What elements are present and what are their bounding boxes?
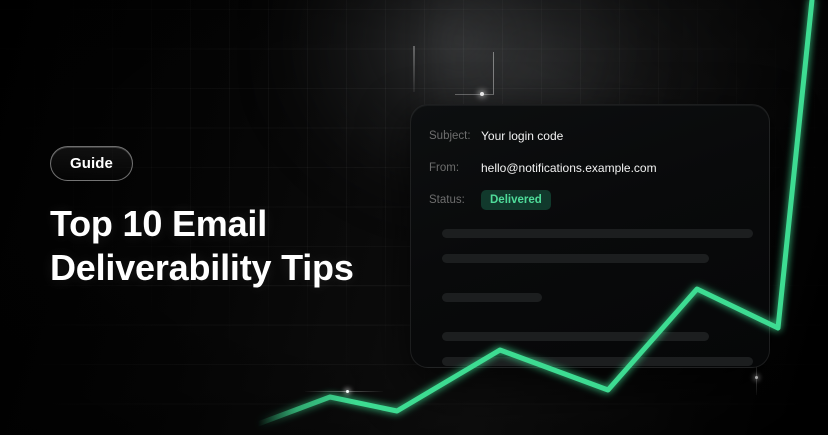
guide-badge: Guide xyxy=(50,146,133,181)
email-field-status-label: Status: xyxy=(429,194,481,206)
status-badge: Delivered xyxy=(481,190,551,210)
email-field-subject: Subject: Your login code xyxy=(429,123,769,148)
email-field-subject-value: Your login code xyxy=(481,129,563,143)
email-body-placeholder-bar xyxy=(442,357,753,366)
email-field-from: From: hello@notifications.example.com xyxy=(429,155,769,180)
email-field-status: Status: Delivered xyxy=(429,187,769,212)
email-body-placeholder-bar xyxy=(442,229,753,238)
email-body-placeholder-bar xyxy=(442,293,542,302)
email-body-placeholder-bar xyxy=(442,332,709,341)
page-title: Top 10 Email Deliverability Tips xyxy=(50,202,390,290)
email-field-from-value: hello@notifications.example.com xyxy=(481,161,657,175)
email-field-from-label: From: xyxy=(429,162,481,174)
email-body-placeholder-bar xyxy=(442,254,709,263)
email-field-subject-label: Subject: xyxy=(429,130,481,142)
email-field-list: Subject: Your login code From: hello@not… xyxy=(411,105,769,212)
hero-banner: Subject: Your login code From: hello@not… xyxy=(0,0,828,435)
hero-copy: Guide Top 10 Email Deliverability Tips xyxy=(50,146,390,290)
email-body-placeholder xyxy=(442,229,753,368)
email-preview-card: Subject: Your login code From: hello@not… xyxy=(410,104,770,368)
